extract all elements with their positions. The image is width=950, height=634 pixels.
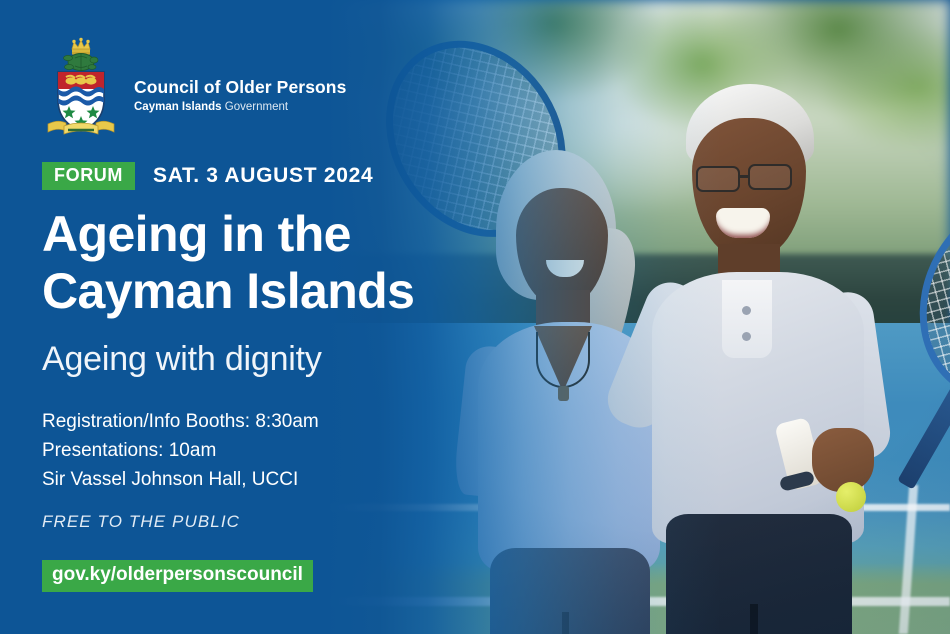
event-details: Registration/Info Booths: 8:30am Present… [42, 408, 319, 495]
government-label-regular: Government [225, 101, 288, 113]
detail-registration: Registration/Info Booths: 8:30am [42, 408, 319, 437]
detail-presentations: Presentations: 10am [42, 437, 319, 466]
brand-text-block: Council of Older Persons Cayman Islands … [134, 62, 346, 114]
headline-line-1: Ageing in the [42, 206, 414, 263]
page-subtitle: Ageing with dignity [42, 340, 322, 379]
headline-line-2: Cayman Islands [42, 263, 414, 320]
poster-canvas: Council of Older Persons Cayman Islands … [0, 0, 950, 634]
poster-content: Council of Older Persons Cayman Islands … [0, 0, 950, 634]
government-label-bold: Cayman Islands [134, 101, 222, 113]
forum-badge: FORUM [42, 162, 135, 190]
government-label: Cayman Islands Government [134, 101, 346, 114]
event-meta-row: FORUM SAT. 3 AUGUST 2024 [42, 162, 373, 190]
event-date: SAT. 3 AUGUST 2024 [153, 164, 373, 188]
detail-venue: Sir Vassel Johnson Hall, UCCI [42, 466, 319, 495]
page-title: Ageing in the Cayman Islands [42, 206, 414, 320]
cayman-islands-coat-of-arms-icon [44, 36, 118, 140]
website-url-badge[interactable]: gov.ky/olderpersonscouncil [42, 560, 313, 592]
free-admission-note: FREE TO THE PUBLIC [42, 512, 240, 532]
organisation-name: Council of Older Persons [134, 78, 346, 97]
brand-lockup: Council of Older Persons Cayman Islands … [44, 36, 346, 140]
